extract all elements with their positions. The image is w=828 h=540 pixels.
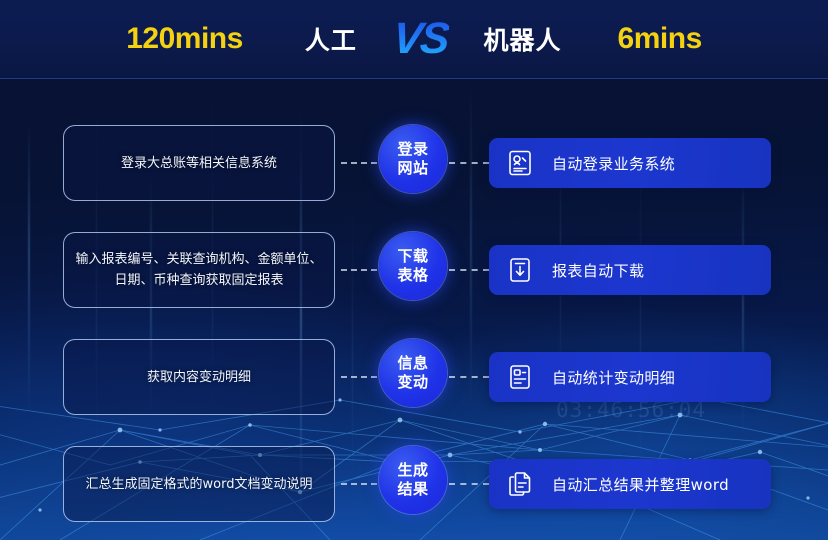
- robot-step-label: 自动登录业务系统: [552, 153, 675, 174]
- manual-side-label: 人工: [305, 21, 357, 57]
- robot-step-label: 报表自动下载: [552, 260, 644, 281]
- manual-step-text: 输入报表编号、关联查询机构、金额单位、 日期、币种查询获取固定报表: [75, 249, 322, 291]
- step-circle-badge[interactable]: 信息 变动: [379, 339, 447, 407]
- connector-dash-right: [449, 269, 489, 271]
- vs-badge: VS: [391, 17, 450, 61]
- manual-step-text: 登录大总账等相关信息系统: [121, 153, 277, 174]
- connector-dash-left: [341, 269, 377, 271]
- step-circle-line2: 变动: [397, 373, 428, 392]
- step-circle-line2: 网站: [397, 159, 428, 178]
- step-circle-badge[interactable]: 登录 网站: [379, 125, 447, 193]
- manual-time-label: 120mins: [126, 22, 243, 56]
- connector-dash-right: [449, 483, 489, 485]
- manual-step-card[interactable]: 登录大总账等相关信息系统: [63, 125, 335, 201]
- manual-step-card[interactable]: 汇总生成固定格式的word文档变动说明: [63, 446, 335, 522]
- robot-step-card[interactable]: 自动登录业务系统: [489, 138, 771, 188]
- report-document-icon: [507, 363, 533, 391]
- step-circle-line1: 信息: [397, 354, 428, 373]
- process-row: 输入报表编号、关联查询机构、金额单位、 日期、币种查询获取固定报表 下载 表格: [0, 217, 828, 323]
- robot-step-card[interactable]: 自动统计变动明细: [489, 352, 771, 402]
- process-rows: 登录大总账等相关信息系统 登录 网站: [0, 78, 828, 540]
- connector-dash-right: [449, 162, 489, 164]
- step-circle-badge[interactable]: 生成 结果: [379, 446, 447, 514]
- connector-dash-left: [341, 483, 377, 485]
- manual-step-text: 获取内容变动明细: [147, 367, 251, 388]
- connector-dash-left: [341, 162, 377, 164]
- manual-step-card[interactable]: 获取内容变动明细: [63, 339, 335, 415]
- robot-side-label: 机器人: [484, 21, 562, 57]
- step-circle-line1: 登录: [397, 140, 428, 159]
- robot-step-label: 自动汇总结果并整理word: [552, 474, 729, 495]
- id-card-icon: [507, 149, 533, 177]
- process-row: 登录大总账等相关信息系统 登录 网站: [0, 110, 828, 216]
- robot-step-card[interactable]: 报表自动下载: [489, 245, 771, 295]
- step-circle-line1: 下载: [397, 247, 428, 266]
- step-circle-line2: 表格: [397, 266, 428, 285]
- connector-dash-right: [449, 376, 489, 378]
- download-box-icon: [507, 256, 533, 284]
- process-row: 汇总生成固定格式的word文档变动说明 生成 结果: [0, 431, 828, 537]
- step-circle-badge[interactable]: 下载 表格: [379, 232, 447, 300]
- manual-step-card[interactable]: 输入报表编号、关联查询机构、金额单位、 日期、币种查询获取固定报表: [63, 232, 335, 308]
- process-row: 获取内容变动明细 信息 变动 自动统计变: [0, 324, 828, 430]
- step-circle-line2: 结果: [397, 480, 428, 499]
- copy-document-icon: [507, 470, 533, 498]
- robot-step-label: 自动统计变动明细: [552, 367, 675, 388]
- manual-step-text: 汇总生成固定格式的word文档变动说明: [86, 474, 313, 495]
- infographic-canvas: 03:46:56:04 120mins 人工 VS 机器人 6mins 登录大总…: [0, 0, 828, 540]
- step-circle-line1: 生成: [397, 461, 428, 480]
- robot-step-card[interactable]: 自动汇总结果并整理word: [489, 459, 771, 509]
- comparison-header: 120mins 人工 VS 机器人 6mins: [0, 0, 828, 79]
- robot-time-label: 6mins: [618, 22, 702, 56]
- connector-dash-left: [341, 376, 377, 378]
